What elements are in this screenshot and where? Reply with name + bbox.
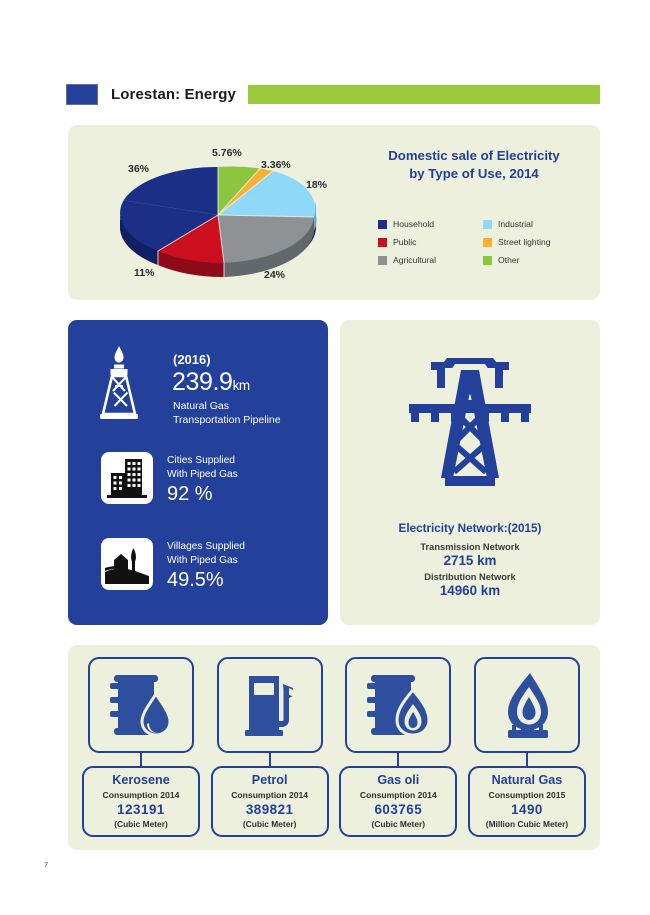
fuel-stem-gas-oli	[397, 753, 399, 766]
pie-label-public: 11%	[134, 267, 154, 279]
page-title: Lorestan: Energy	[111, 86, 236, 103]
electricity-network-panel: Electricity Network:(2015) Transmission …	[340, 320, 600, 625]
barrel-flame-icon	[345, 657, 451, 753]
fuel-value-gas-oli: 603765	[343, 802, 453, 817]
fuel-consumption-label-natural-gas: Consumption 2015	[472, 790, 582, 800]
fuel-name-natural-gas: Natural Gas	[472, 773, 582, 788]
legend-label-household: Household	[393, 219, 434, 229]
fuel-pump-icon	[217, 657, 323, 753]
pie-label-industrial: 18%	[306, 179, 327, 191]
gas-pipeline-number: 239.9	[172, 368, 233, 396]
legend-swatch-public	[378, 238, 387, 247]
legend-swatch-industrial	[483, 220, 492, 229]
power-pylon-icon	[340, 348, 600, 508]
pie-label-other: 5.76%	[212, 147, 242, 159]
electricity-sale-panel: 36% 11% 24% 18% 3.36% 5.76% Domestic sal…	[68, 125, 600, 300]
page-number: 7	[44, 860, 48, 869]
header-color-swatch	[66, 84, 98, 105]
cities-label-line2: With Piped Gas	[167, 468, 238, 482]
fuel-info-natural-gas: Natural Gas Consumption 2015 1490 (Milli…	[468, 766, 586, 837]
gas-pipeline-label-line1: Natural Gas	[173, 399, 323, 413]
pie-chart: 36% 11% 24% 18% 3.36% 5.76%	[98, 145, 338, 285]
fuel-card-petrol: Petrol Consumption 2014 389821 (Cubic Me…	[211, 657, 329, 837]
legend-swatch-agricultural	[378, 256, 387, 265]
header-green-bar	[248, 85, 600, 104]
villages-supplied-value: 49.5%	[167, 569, 245, 592]
fuel-name-kerosene: Kerosene	[86, 773, 196, 788]
fuel-name-gas-oli: Gas oli	[343, 773, 453, 788]
fuel-consumption-label-petrol: Consumption 2014	[215, 790, 325, 800]
fuel-unit-kerosene: (Cubic Meter)	[86, 819, 196, 829]
villages-supplied-row: Villages Supplied With Piped Gas 49.5%	[101, 538, 245, 592]
legend-label-other: Other	[498, 255, 520, 265]
pie-label-street-lighting: 3.36%	[261, 159, 291, 171]
fuel-value-petrol: 389821	[215, 802, 325, 817]
legend-item-other: Other	[483, 255, 593, 265]
fuel-stem-petrol	[269, 753, 271, 766]
pie-label-household: 36%	[128, 163, 149, 175]
fuel-name-petrol: Petrol	[215, 773, 325, 788]
chart-title: Domestic sale of Electricity by Type of …	[358, 147, 590, 183]
legend-swatch-other	[483, 256, 492, 265]
fuel-unit-petrol: (Cubic Meter)	[215, 819, 325, 829]
legend-item-street-lighting: Street lighting	[483, 237, 593, 247]
legend-item-public: Public	[378, 237, 483, 247]
legend-label-agricultural: Agricultural	[393, 255, 436, 265]
village-landscape-icon	[101, 538, 153, 590]
fuel-consumption-label-gas-oli: Consumption 2014	[343, 790, 453, 800]
fuel-info-petrol: Petrol Consumption 2014 389821 (Cubic Me…	[211, 766, 329, 837]
fuel-info-kerosene: Kerosene Consumption 2014 123191 (Cubic …	[82, 766, 200, 837]
cities-supplied-value: 92 %	[167, 483, 238, 506]
electricity-network-title: Electricity Network:(2015)	[340, 522, 600, 535]
fuel-unit-natural-gas: (Million Cubic Meter)	[472, 819, 582, 829]
legend-label-public: Public	[393, 237, 416, 247]
gas-pipeline-label: Natural Gas Transportation Pipeline	[173, 399, 323, 427]
cities-label-line1: Cities Supplied	[167, 454, 238, 468]
pie-label-agricultural: 24%	[264, 269, 285, 281]
fuel-value-kerosene: 123191	[86, 802, 196, 817]
legend-label-street-lighting: Street lighting	[498, 237, 551, 247]
page-header: Lorestan: Energy	[66, 82, 600, 106]
chart-title-line2: by Type of Use, 2014	[358, 165, 590, 183]
villages-label-line2: With Piped Gas	[167, 554, 245, 568]
legend-swatch-street-lighting	[483, 238, 492, 247]
gas-pipeline-value: 239.9km	[172, 368, 250, 397]
legend-item-industrial: Industrial	[483, 219, 593, 229]
distribution-network-value: 14960 km	[340, 583, 600, 598]
cities-supplied-text: Cities Supplied With Piped Gas 92 %	[167, 452, 238, 506]
cities-supplied-row: Cities Supplied With Piped Gas 92 %	[101, 452, 238, 506]
fuel-card-gas-oli: Gas oli Consumption 2014 603765 (Cubic M…	[339, 657, 457, 837]
legend-label-industrial: Industrial	[498, 219, 533, 229]
gas-year: (2016)	[173, 352, 211, 367]
fuel-consumption-panel: Kerosene Consumption 2014 123191 (Cubic …	[68, 645, 600, 850]
legend-item-agricultural: Agricultural	[378, 255, 483, 265]
fuel-info-gas-oli: Gas oli Consumption 2014 603765 (Cubic M…	[339, 766, 457, 837]
villages-supplied-text: Villages Supplied With Piped Gas 49.5%	[167, 538, 245, 592]
legend-item-household: Household	[378, 219, 483, 229]
natural-gas-panel: (2016) 239.9km Natural Gas Transportatio…	[68, 320, 328, 625]
fuel-value-natural-gas: 1490	[472, 802, 582, 817]
gas-pipeline-unit: km	[233, 378, 250, 393]
city-buildings-icon	[101, 452, 153, 504]
chart-title-line1: Domestic sale of Electricity	[358, 147, 590, 165]
legend-swatch-household	[378, 220, 387, 229]
fuel-stem-kerosene	[140, 753, 142, 766]
transmission-network-value: 2715 km	[340, 553, 600, 568]
villages-label-line1: Villages Supplied	[167, 540, 245, 554]
distribution-network-label: Distribution Network	[340, 572, 600, 582]
fuel-stem-natural-gas	[526, 753, 528, 766]
chart-legend: Household Industrial Public Street light…	[378, 215, 593, 269]
fuel-consumption-label-kerosene: Consumption 2014	[86, 790, 196, 800]
fuel-card-natural-gas: Natural Gas Consumption 2015 1490 (Milli…	[468, 657, 586, 837]
fuel-cards: Kerosene Consumption 2014 123191 (Cubic …	[82, 657, 586, 837]
fuel-card-kerosene: Kerosene Consumption 2014 123191 (Cubic …	[82, 657, 200, 837]
gas-pipeline-label-line2: Transportation Pipeline	[173, 413, 323, 427]
oil-barrel-droplet-icon	[88, 657, 194, 753]
gas-derrick-icon	[96, 344, 142, 429]
gas-burner-flame-icon	[474, 657, 580, 753]
fuel-unit-gas-oli: (Cubic Meter)	[343, 819, 453, 829]
transmission-network-label: Transmission Network	[340, 542, 600, 552]
